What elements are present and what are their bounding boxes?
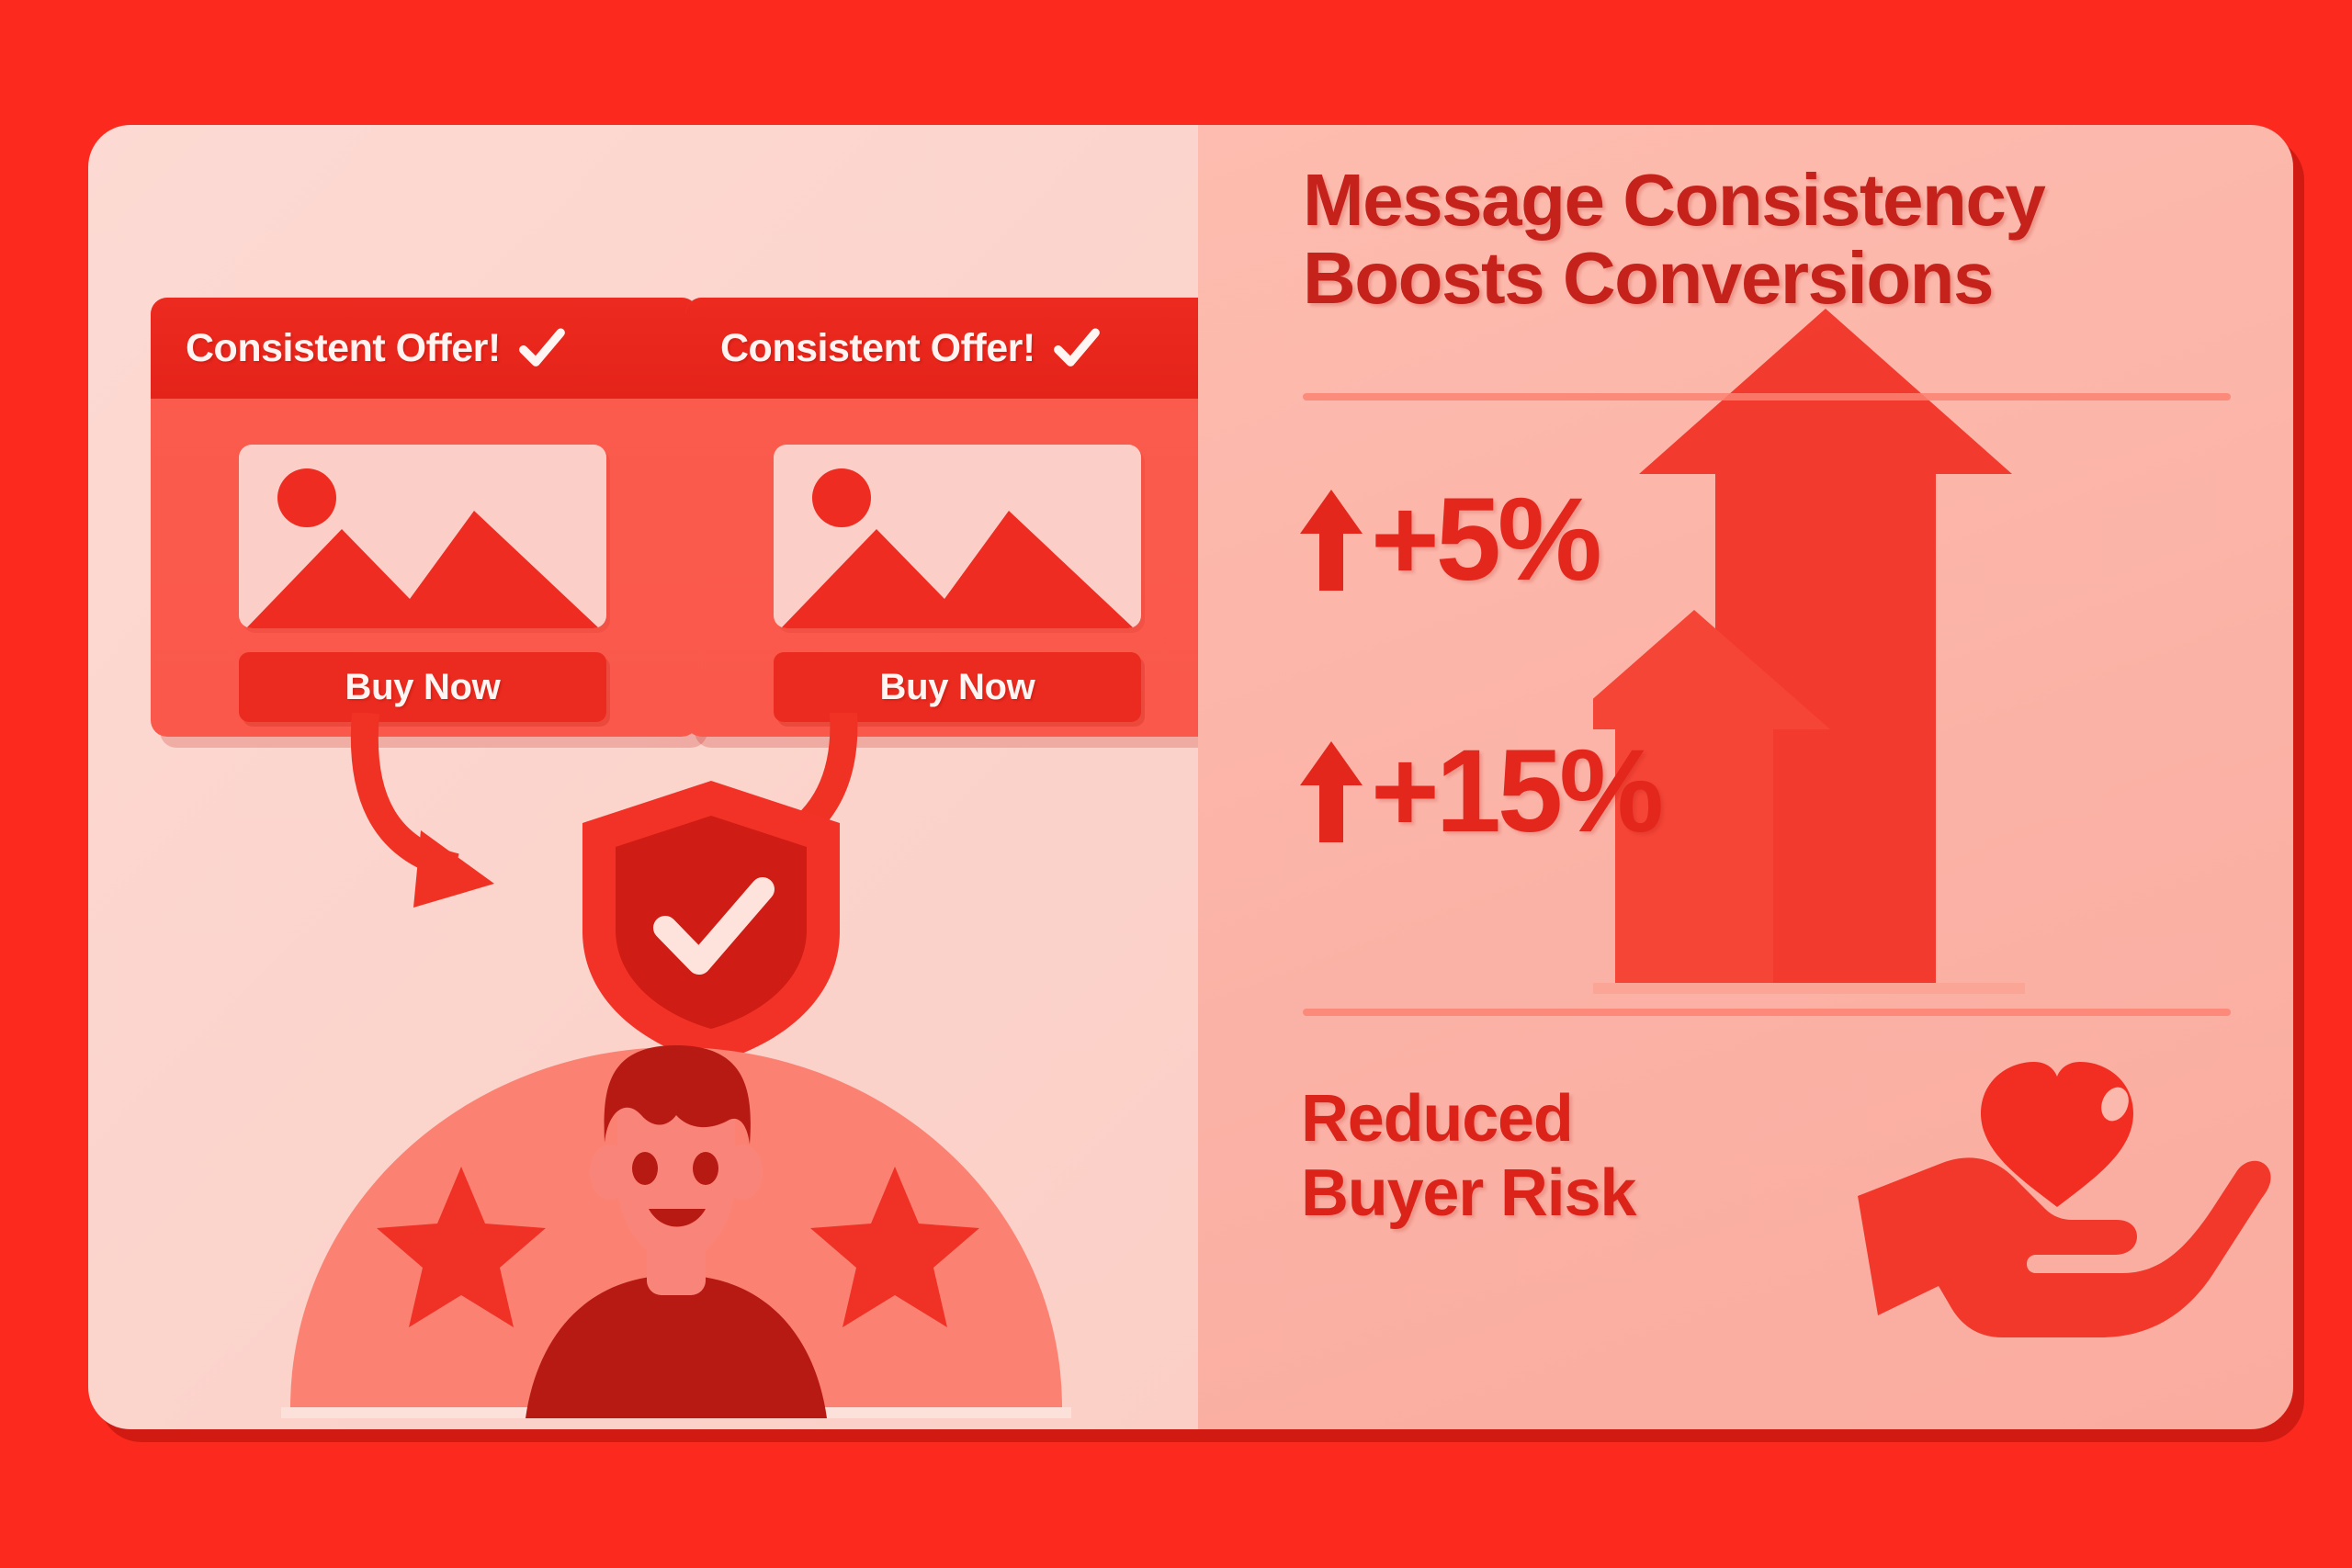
divider bbox=[1303, 1009, 2231, 1016]
offer-card-header-label: Consistent Offer! bbox=[720, 326, 1035, 371]
hand-holding-heart-icon bbox=[1841, 1043, 2273, 1347]
buy-now-label: Buy Now bbox=[879, 667, 1035, 708]
offer-card[interactable]: Consistent Offer! Buy Now bbox=[151, 298, 698, 737]
image-placeholder-icon bbox=[239, 445, 606, 628]
page-title: Message Consistency Boosts Conversions bbox=[1303, 162, 2130, 318]
offer-card-header-label: Consistent Offer! bbox=[186, 326, 501, 371]
check-icon bbox=[1052, 323, 1102, 373]
offer-card-header: Consistent Offer! bbox=[685, 298, 1233, 399]
stat-row: +5% bbox=[1299, 481, 1599, 599]
buy-now-button[interactable]: Buy Now bbox=[774, 652, 1141, 722]
arrow-up-icon bbox=[1299, 486, 1363, 594]
stat-row: +15% bbox=[1299, 733, 1660, 851]
divider bbox=[1303, 393, 2231, 400]
check-icon bbox=[517, 323, 567, 373]
arrow-up-icon bbox=[1299, 738, 1363, 846]
shield-check-icon bbox=[573, 775, 849, 1069]
benefit-label-line-2: Buyer Risk bbox=[1301, 1156, 1635, 1231]
benefit-label: Reduced Buyer Risk bbox=[1301, 1082, 1635, 1230]
stat-value: +5% bbox=[1371, 481, 1599, 599]
left-illustration-panel: Consistent Offer! Buy Now bbox=[88, 125, 1198, 1429]
offer-card-header: Consistent Offer! bbox=[151, 298, 698, 399]
right-stats-panel: Message Consistency Boosts Conversions +… bbox=[1198, 125, 2293, 1429]
page-title-line-2: Boosts Conversions bbox=[1303, 240, 2130, 318]
smiling-person-icon bbox=[281, 1043, 1071, 1420]
image-placeholder-icon bbox=[774, 445, 1141, 628]
benefit-label-line-1: Reduced bbox=[1301, 1082, 1635, 1156]
infographic-board: Consistent Offer! Buy Now bbox=[88, 125, 2293, 1429]
page-title-line-1: Message Consistency bbox=[1303, 162, 2130, 240]
stat-value: +15% bbox=[1371, 733, 1660, 851]
infographic-canvas: Consistent Offer! Buy Now bbox=[0, 0, 2352, 1568]
buy-now-label: Buy Now bbox=[345, 667, 500, 708]
offer-card[interactable]: Consistent Offer! Buy Now bbox=[685, 298, 1233, 737]
buy-now-button[interactable]: Buy Now bbox=[239, 652, 606, 722]
